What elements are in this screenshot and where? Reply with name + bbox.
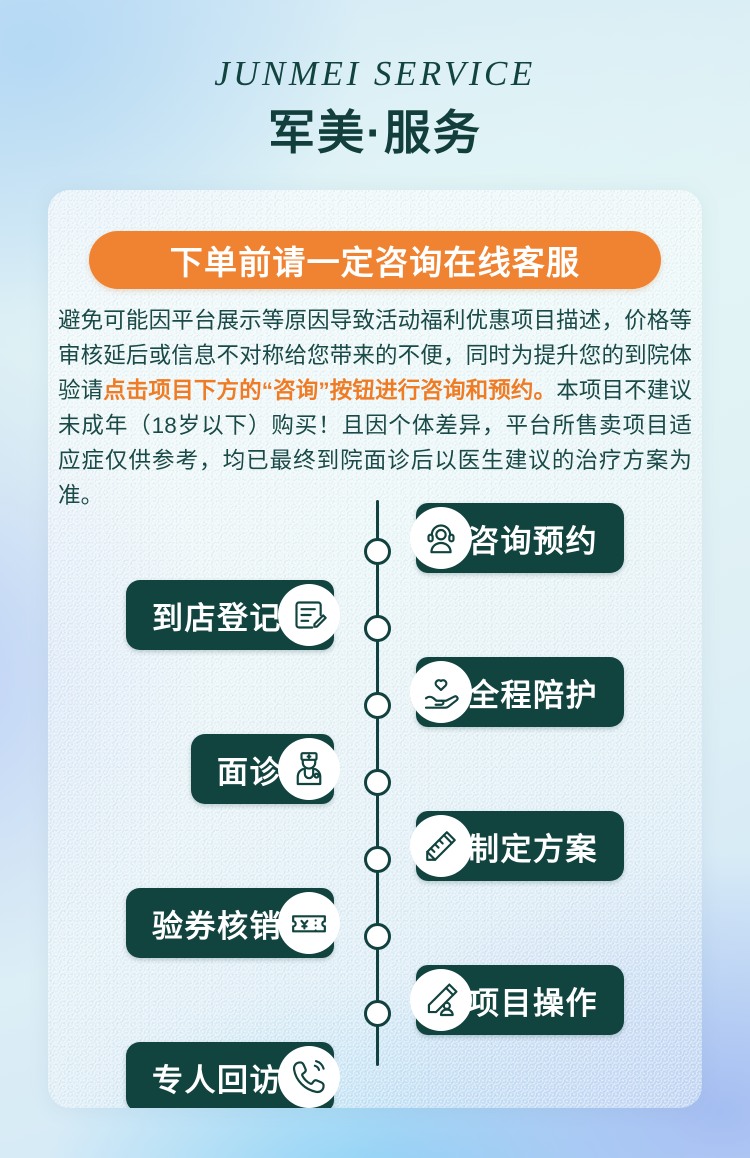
- hand-heart-icon: [410, 661, 472, 723]
- timeline-node: [364, 538, 391, 565]
- timeline-node: [364, 692, 391, 719]
- timeline-step[interactable]: 验券核销: [126, 885, 354, 961]
- timeline-node: [364, 769, 391, 796]
- step-label: 专人回访: [152, 1055, 282, 1100]
- timeline-node: [364, 1000, 391, 1027]
- notice-paragraph: 避免可能因平台展示等原因导致活动福利优惠项目描述，价格等审核延后或信息不对称给您…: [52, 303, 698, 513]
- document-pencil-icon: [278, 584, 340, 646]
- consult-banner-label: 下单前请一定咨询在线客服: [170, 236, 580, 284]
- notice-highlight: 点击项目下方的“咨询”按钮进行咨询和预约。: [103, 378, 556, 403]
- headset-support-icon: [410, 507, 472, 569]
- timeline-node: [364, 615, 391, 642]
- timeline-node: [364, 846, 391, 873]
- step-label: 验券核销: [152, 901, 282, 946]
- timeline-node: [364, 923, 391, 950]
- page-header: JUNMEI SERVICE 军美·服务: [0, 0, 750, 160]
- timeline-step[interactable]: 项目操作: [396, 962, 624, 1038]
- service-info-card: 下单前请一定咨询在线客服 避免可能因平台展示等原因导致活动福利优惠项目描述，价格…: [48, 190, 702, 1108]
- pencil-ruler-icon: [410, 815, 472, 877]
- phone-call-icon: [278, 1046, 340, 1108]
- step-label: 全程陪护: [468, 670, 598, 715]
- brand-chinese-title: 军美·服务: [0, 107, 750, 160]
- doctor-icon: [278, 738, 340, 800]
- timeline-step[interactable]: 制定方案: [396, 808, 624, 884]
- timeline-step[interactable]: 咨询预约: [396, 500, 624, 576]
- consult-banner[interactable]: 下单前请一定咨询在线客服: [89, 231, 661, 289]
- coupon-ticket-icon: [278, 892, 340, 954]
- brand-english-title: JUNMEI SERVICE: [0, 56, 750, 91]
- step-label: 制定方案: [468, 824, 598, 869]
- step-label: 咨询预约: [468, 516, 598, 561]
- step-label: 到店登记: [152, 593, 282, 638]
- timeline-step[interactable]: 全程陪护: [396, 654, 624, 730]
- service-flow-timeline: 咨询预约 到店登记: [48, 500, 702, 1100]
- timeline-step[interactable]: 专人回访: [126, 1039, 354, 1108]
- step-label: 面诊: [217, 747, 282, 792]
- timeline-step[interactable]: 面诊: [191, 731, 354, 807]
- step-label: 项目操作: [468, 978, 598, 1023]
- timeline-step[interactable]: 到店登记: [126, 577, 354, 653]
- treatment-pen-icon: [410, 969, 472, 1031]
